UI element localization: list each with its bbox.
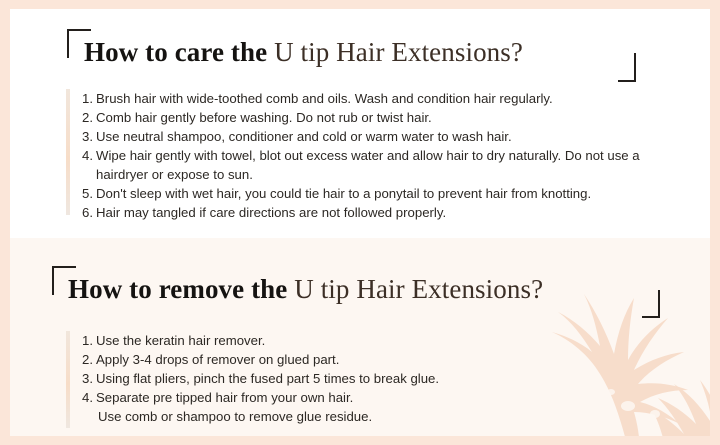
info-card: How to care the U tip Hair Extensions? 1…	[10, 9, 710, 436]
list-item: 2. Comb hair gently before washing. Do n…	[76, 108, 686, 127]
remove-heading-strong: How to remove the	[68, 274, 287, 304]
step-text: Apply 3-4 drops of remover on glued part…	[96, 350, 626, 369]
page-title-care: How to care the U tip Hair Extensions?	[84, 37, 523, 67]
step-number: 4.	[76, 388, 93, 407]
list-item: 1. Use the keratin hair remover.	[76, 331, 626, 350]
bracket-bottom-right-icon	[618, 53, 636, 82]
step-number: 2.	[76, 350, 93, 369]
step-text: Don't sleep with wet hair, you could tie…	[96, 184, 686, 203]
step-text: Hair may tangled if care directions are …	[96, 203, 686, 222]
care-heading-strong: How to care the	[84, 37, 267, 67]
remove-steps-list: 1. Use the keratin hair remover. 2. Appl…	[66, 331, 626, 407]
care-steps-list: 1. Brush hair with wide-toothed comb and…	[66, 89, 686, 222]
step-number: 6.	[76, 203, 93, 222]
step-number: 1.	[76, 331, 93, 350]
step-text: Separate pre tipped hair from your own h…	[96, 388, 626, 407]
list-item: 1. Brush hair with wide-toothed comb and…	[76, 89, 686, 108]
step-text: Brush hair with wide-toothed comb and oi…	[96, 89, 686, 108]
remove-accent-bar	[66, 331, 70, 428]
list-item: 3. Using flat pliers, pinch the fused pa…	[76, 369, 626, 388]
step-text: Wipe hair gently with towel, blot out ex…	[96, 146, 686, 184]
list-item: 6. Hair may tangled if care directions a…	[76, 203, 686, 222]
step-number: 3.	[76, 369, 93, 388]
step-text: Comb hair gently before washing. Do not …	[96, 108, 686, 127]
step-number: 1.	[76, 89, 93, 108]
remove-extra-note: Use comb or shampoo to remove glue resid…	[66, 407, 626, 426]
remove-heading-light: U tip Hair Extensions?	[294, 274, 543, 304]
care-accent-bar	[66, 89, 70, 215]
list-item: 5. Don't sleep with wet hair, you could …	[76, 184, 686, 203]
care-heading-light: U tip Hair Extensions?	[274, 37, 523, 67]
list-item: 3. Use neutral shampoo, conditioner and …	[76, 127, 686, 146]
care-steps-block: 1. Brush hair with wide-toothed comb and…	[66, 89, 686, 222]
step-number: 3.	[76, 127, 93, 146]
step-number: 4.	[76, 146, 93, 165]
step-text: Using flat pliers, pinch the fused part …	[96, 369, 626, 388]
step-number: 2.	[76, 108, 93, 127]
bracket-bottom-right-icon	[642, 290, 660, 318]
step-text: Use neutral shampoo, conditioner and col…	[96, 127, 686, 146]
step-text: Use the keratin hair remover.	[96, 331, 626, 350]
list-item: 2. Apply 3-4 drops of remover on glued p…	[76, 350, 626, 369]
step-number: 5.	[76, 184, 93, 203]
list-item: 4. Wipe hair gently with towel, blot out…	[76, 146, 686, 184]
remove-steps-block: 1. Use the keratin hair remover. 2. Appl…	[66, 331, 626, 426]
page-title-remove: How to remove the U tip Hair Extensions?	[68, 274, 543, 304]
list-item: 4. Separate pre tipped hair from your ow…	[76, 388, 626, 407]
